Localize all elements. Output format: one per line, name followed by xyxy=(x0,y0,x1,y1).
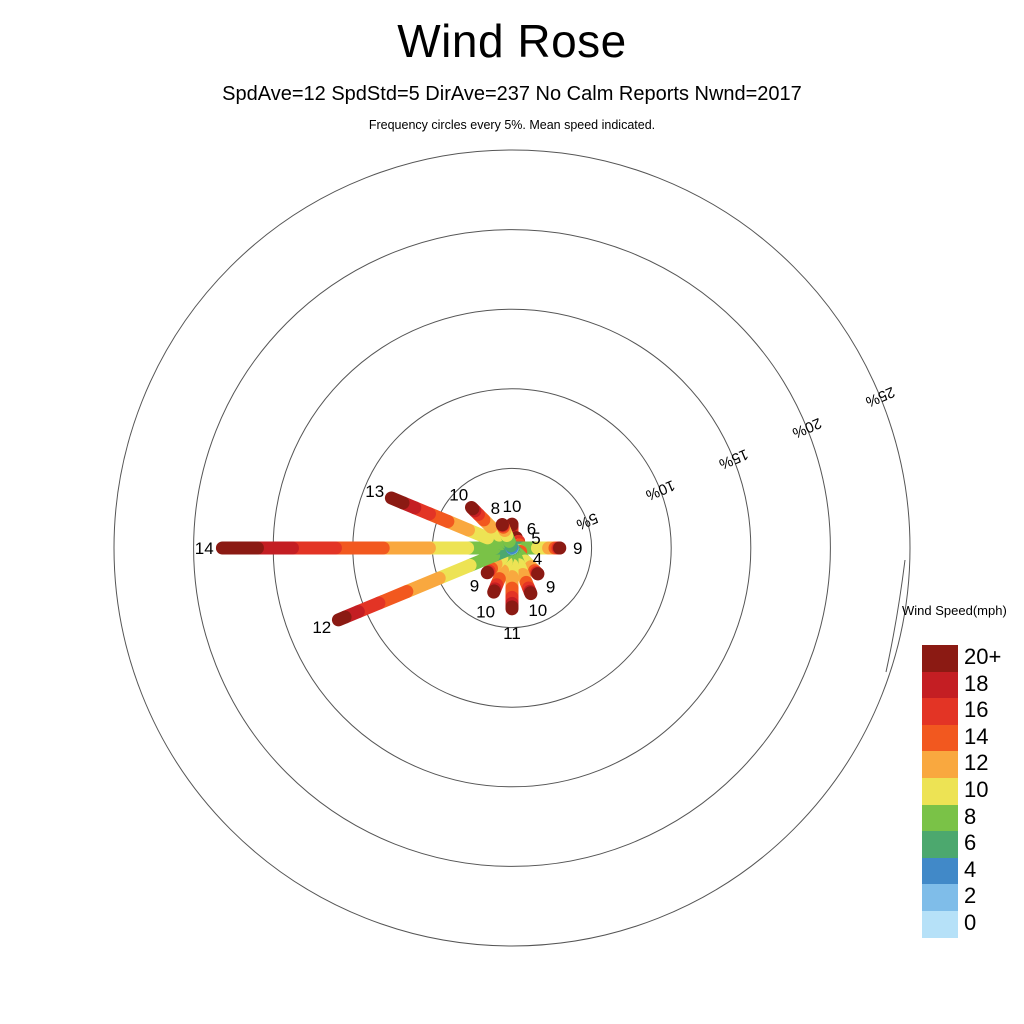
legend-row: 6 xyxy=(922,831,1022,858)
legend-row: 20+ xyxy=(922,645,1022,672)
petal-mean-speed-label: 10 xyxy=(476,603,495,622)
legend-row: 18 xyxy=(922,672,1022,699)
legend-row: 8 xyxy=(922,805,1022,832)
petal-segment xyxy=(391,498,403,503)
legend-title: Wind Speed(mph) xyxy=(902,603,1007,618)
wind-rose-plot: 5%10%15%20%25% 10659491011109121413108 xyxy=(0,0,1024,1024)
legend-label: 6 xyxy=(964,830,1016,856)
legend-color-swatch xyxy=(922,751,958,778)
legend-color-swatch xyxy=(922,858,958,885)
legend-color-swatch xyxy=(922,698,958,725)
legend-label: 16 xyxy=(964,697,1016,723)
petal-mean-speed-label: 9 xyxy=(546,578,555,597)
petal-mean-speed-label: 10 xyxy=(503,497,522,516)
wind-rose-page: Wind Rose SpdAve=12 SpdStd=5 DirAve=237 … xyxy=(0,0,1024,1024)
legend-row: 4 xyxy=(922,858,1022,885)
legend-color-swatch xyxy=(922,778,958,805)
legend-color-swatch xyxy=(922,831,958,858)
petal-segment xyxy=(471,507,472,508)
legend-color-swatch xyxy=(922,911,958,938)
petal-mean-speed-label: 10 xyxy=(449,486,468,505)
petal-mean-speed-label: 9 xyxy=(470,576,479,595)
petal-mean-speed-label: 5 xyxy=(531,529,540,548)
legend-row: 0 xyxy=(922,911,1022,938)
legend-row: 12 xyxy=(922,751,1022,778)
petal-mean-speed-label: 9 xyxy=(573,539,582,558)
legend-label: 20+ xyxy=(964,644,1016,670)
petal-mean-speed-label: 13 xyxy=(365,482,384,501)
legend-row: 2 xyxy=(922,884,1022,911)
legend-label: 14 xyxy=(964,724,1016,750)
petal-mean-speed-label: 12 xyxy=(312,618,331,637)
legend-label: 4 xyxy=(964,857,1016,883)
legend-color-swatch xyxy=(922,672,958,699)
petal-mean-speed-label: 11 xyxy=(503,624,521,643)
petal-mean-speed-label: 8 xyxy=(491,499,500,518)
legend-label: 18 xyxy=(964,671,1016,697)
legend-color-swatch xyxy=(922,725,958,752)
ring-label: 5% xyxy=(574,509,601,533)
legend-color-swatch xyxy=(922,805,958,832)
wind-speed-legend: 20+181614121086420 xyxy=(922,645,1022,938)
legend-label: 12 xyxy=(964,750,1016,776)
legend-color-swatch xyxy=(922,645,958,672)
legend-label: 2 xyxy=(964,883,1016,909)
ring-label: 10% xyxy=(643,476,677,503)
petal-mean-speed-label: 10 xyxy=(528,601,547,620)
legend-row: 16 xyxy=(922,698,1022,725)
legend-color-swatch xyxy=(922,884,958,911)
ring-label: 20% xyxy=(790,414,824,441)
petal-segment xyxy=(338,617,345,620)
legend-label: 10 xyxy=(964,777,1016,803)
ring-label: 25% xyxy=(863,383,897,410)
legend-row: 10 xyxy=(922,778,1022,805)
ring-labels: 5%10%15%20%25% xyxy=(574,383,898,533)
legend-label: 8 xyxy=(964,804,1016,830)
petal-mean-speed-label: 14 xyxy=(195,539,214,558)
legend-label: 0 xyxy=(964,910,1016,936)
petal-mean-speed-label: 4 xyxy=(533,550,542,569)
ring-label: 15% xyxy=(716,445,750,472)
legend-row: 14 xyxy=(922,725,1022,752)
